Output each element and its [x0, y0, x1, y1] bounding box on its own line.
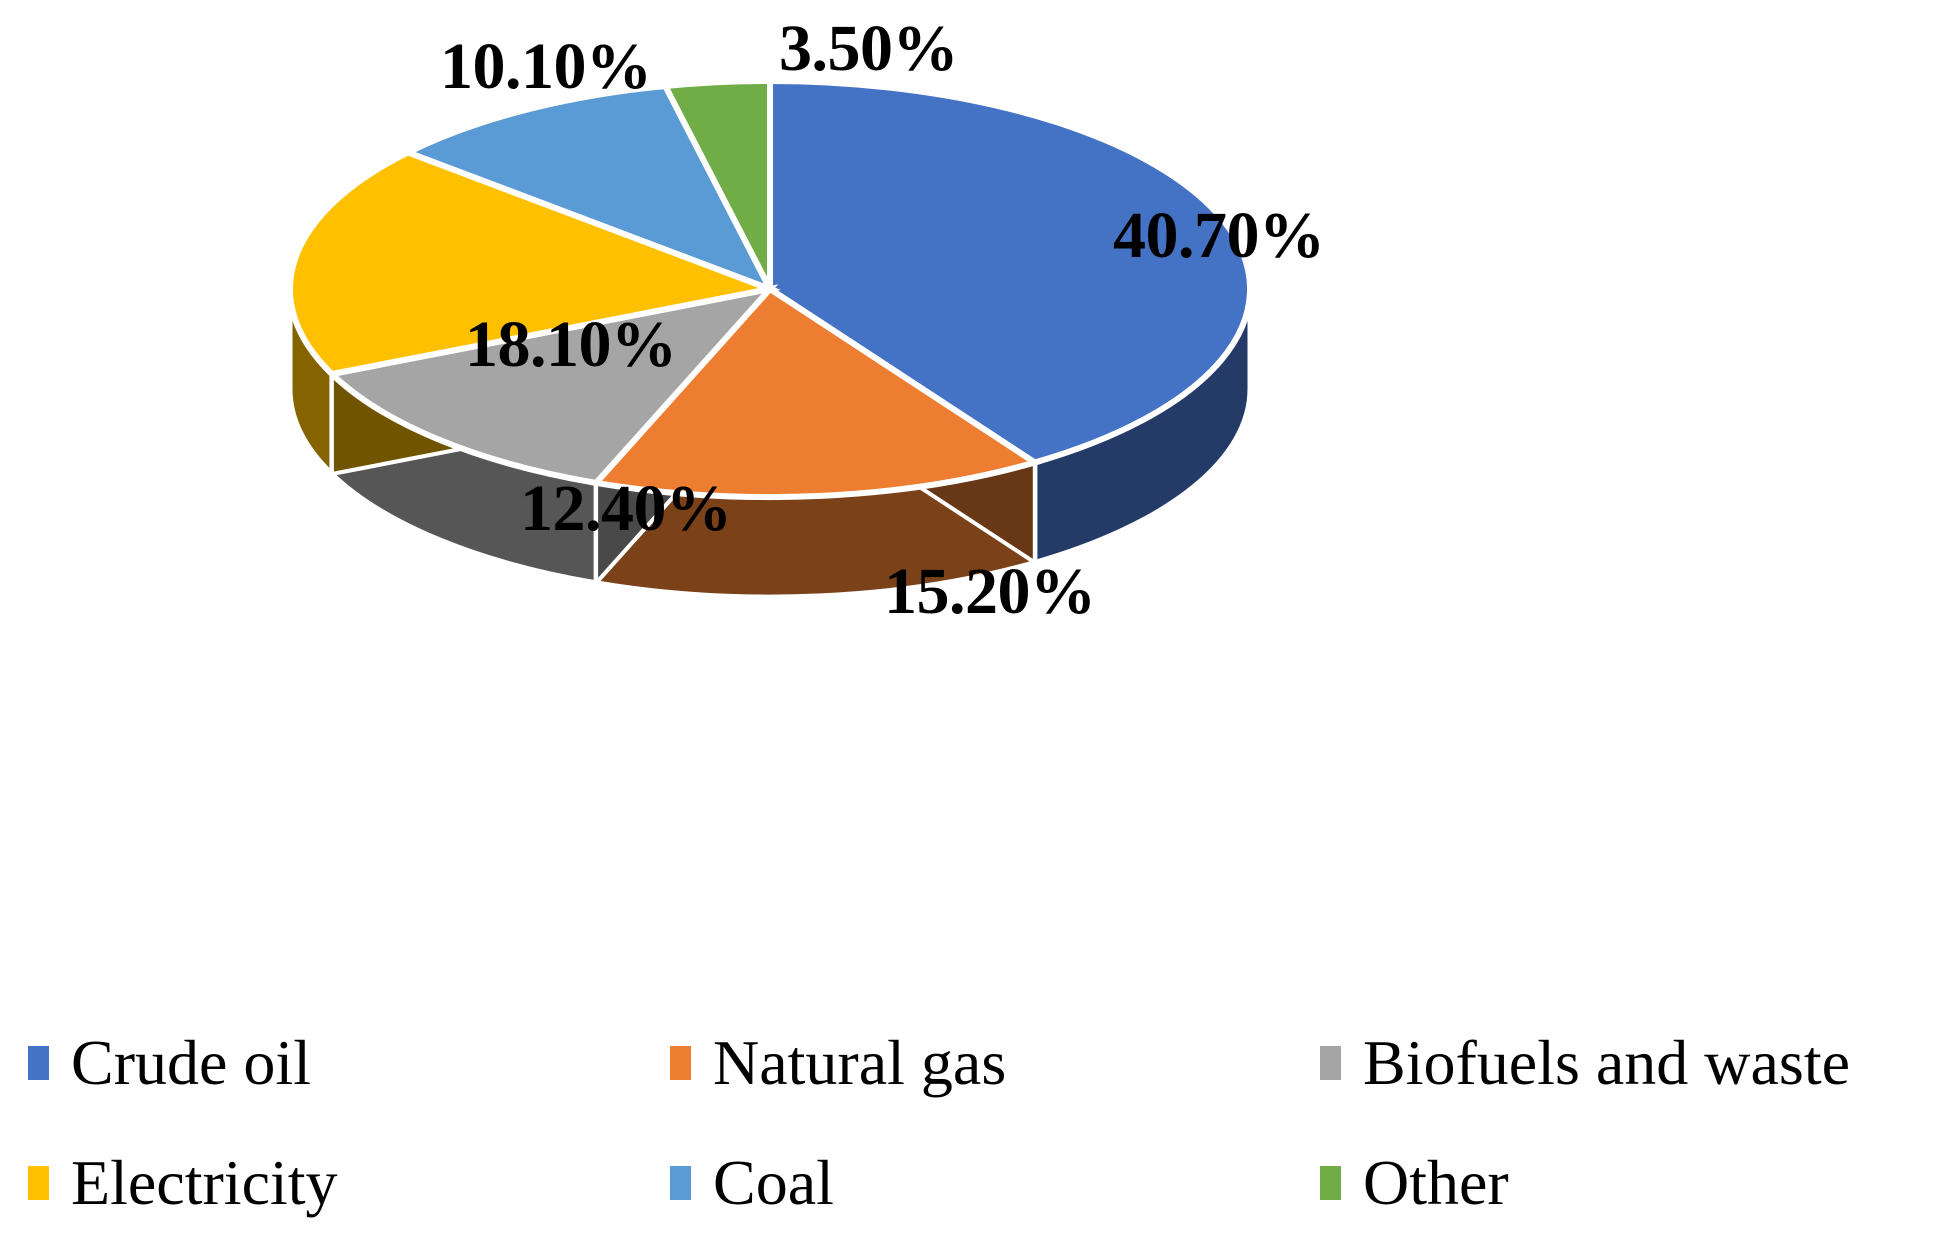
data-label-biofuels: 12.40% — [520, 476, 732, 542]
legend-item-crude-oil[interactable]: Crude oil — [0, 1000, 660, 1126]
chart-plot-area: 40.70% 15.20% 12.40% 18.10% 10.10% 3.50% — [0, 0, 1940, 1000]
legend-item-label: Crude oil — [71, 1031, 311, 1095]
data-label-natural-gas: 15.20% — [884, 559, 1096, 625]
chart-legend: Crude oil Natural gas Biofuels and waste… — [0, 1000, 1940, 1252]
legend-item-label: Natural gas — [713, 1031, 1006, 1095]
legend-swatch-icon — [28, 1046, 49, 1080]
legend-item-other[interactable]: Other — [1320, 1120, 1940, 1246]
legend-item-label: Coal — [713, 1151, 834, 1215]
data-label-other: 3.50% — [779, 16, 958, 82]
legend-item-natural-gas[interactable]: Natural gas — [660, 1000, 1320, 1126]
data-label-electricity: 18.10% — [465, 312, 677, 378]
legend-swatch-icon — [28, 1166, 49, 1200]
pie-chart-figure: 40.70% 15.20% 12.40% 18.10% 10.10% 3.50%… — [0, 0, 1940, 1252]
legend-row: Electricity Coal Other — [0, 1120, 1940, 1246]
legend-row: Crude oil Natural gas Biofuels and waste — [0, 1000, 1940, 1126]
legend-item-label: Electricity — [71, 1151, 338, 1215]
legend-item-biofuels-and-waste[interactable]: Biofuels and waste — [1320, 1000, 1940, 1126]
legend-swatch-icon — [1320, 1166, 1341, 1200]
legend-item-label: Other — [1363, 1151, 1509, 1215]
legend-swatch-icon — [1320, 1046, 1341, 1080]
pie-chart-graphic — [0, 0, 1940, 1000]
legend-swatch-icon — [670, 1166, 691, 1200]
data-label-crude-oil: 40.70% — [1113, 203, 1325, 269]
legend-item-label: Biofuels and waste — [1363, 1031, 1850, 1095]
legend-item-coal[interactable]: Coal — [660, 1120, 1320, 1246]
data-label-coal: 10.10% — [440, 34, 652, 100]
pie-3d-top-slices — [290, 81, 1250, 497]
legend-item-electricity[interactable]: Electricity — [0, 1120, 660, 1246]
legend-swatch-icon — [670, 1046, 691, 1080]
